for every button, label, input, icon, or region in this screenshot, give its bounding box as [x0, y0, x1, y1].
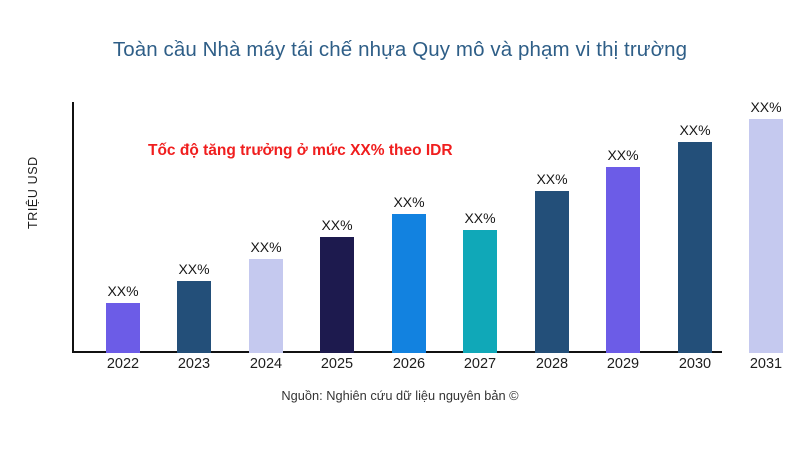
x-tick-2029: 2029	[593, 356, 653, 372]
bar-series: XX%XX%XX%XX%XX%XX%XX%XX%XX%XX%	[72, 102, 800, 353]
x-tick-2024: 2024	[236, 356, 296, 372]
x-tick-2027: 2027	[450, 356, 510, 372]
x-tick-2023: 2023	[164, 356, 224, 372]
bar-value-label-2023: XX%	[178, 261, 209, 277]
bar-2030[interactable]	[678, 142, 712, 353]
x-axis-tick-labels: 2022202320242025202620272028202920302031	[72, 356, 800, 380]
bar-group: XX%	[177, 103, 211, 353]
x-tick-2022: 2022	[93, 356, 153, 372]
bar-2022[interactable]	[106, 303, 140, 353]
bar-group: XX%	[535, 103, 569, 353]
bar-2026[interactable]	[392, 214, 426, 353]
y-axis-label: TRIỆU USD	[22, 133, 44, 253]
bar-group: XX%	[606, 103, 640, 353]
bar-2027[interactable]	[463, 230, 497, 353]
bar-value-label-2028: XX%	[536, 171, 567, 187]
bar-group: XX%	[678, 103, 712, 353]
source-caption: Nguồn: Nghiên cứu dữ liệu nguyên bản ©	[0, 388, 800, 403]
bar-group: XX%	[106, 103, 140, 353]
bar-group: XX%	[320, 103, 354, 353]
bar-value-label-2024: XX%	[250, 239, 281, 255]
bar-2031[interactable]	[749, 119, 783, 353]
bar-value-label-2029: XX%	[607, 147, 638, 163]
bar-group: XX%	[392, 103, 426, 353]
bar-2023[interactable]	[177, 281, 211, 353]
bar-group: XX%	[749, 103, 783, 353]
bar-value-label-2027: XX%	[464, 210, 495, 226]
bar-value-label-2022: XX%	[107, 283, 138, 299]
bar-value-label-2031: XX%	[750, 99, 781, 115]
bar-value-label-2025: XX%	[321, 217, 352, 233]
x-tick-2031: 2031	[736, 356, 796, 372]
bar-group: XX%	[463, 103, 497, 353]
chart-container: Toàn cầu Nhà máy tái chế nhựa Quy mô và …	[0, 0, 800, 450]
page-title: Toàn cầu Nhà máy tái chế nhựa Quy mô và …	[0, 38, 800, 62]
x-tick-2030: 2030	[665, 356, 725, 372]
bar-value-label-2030: XX%	[679, 122, 710, 138]
bar-group: XX%	[249, 103, 283, 353]
x-tick-2026: 2026	[379, 356, 439, 372]
x-tick-2025: 2025	[307, 356, 367, 372]
x-tick-2028: 2028	[522, 356, 582, 372]
bar-2028[interactable]	[535, 191, 569, 353]
bar-2025[interactable]	[320, 237, 354, 353]
bar-value-label-2026: XX%	[393, 194, 424, 210]
bar-2029[interactable]	[606, 167, 640, 353]
bar-2024[interactable]	[249, 259, 283, 353]
